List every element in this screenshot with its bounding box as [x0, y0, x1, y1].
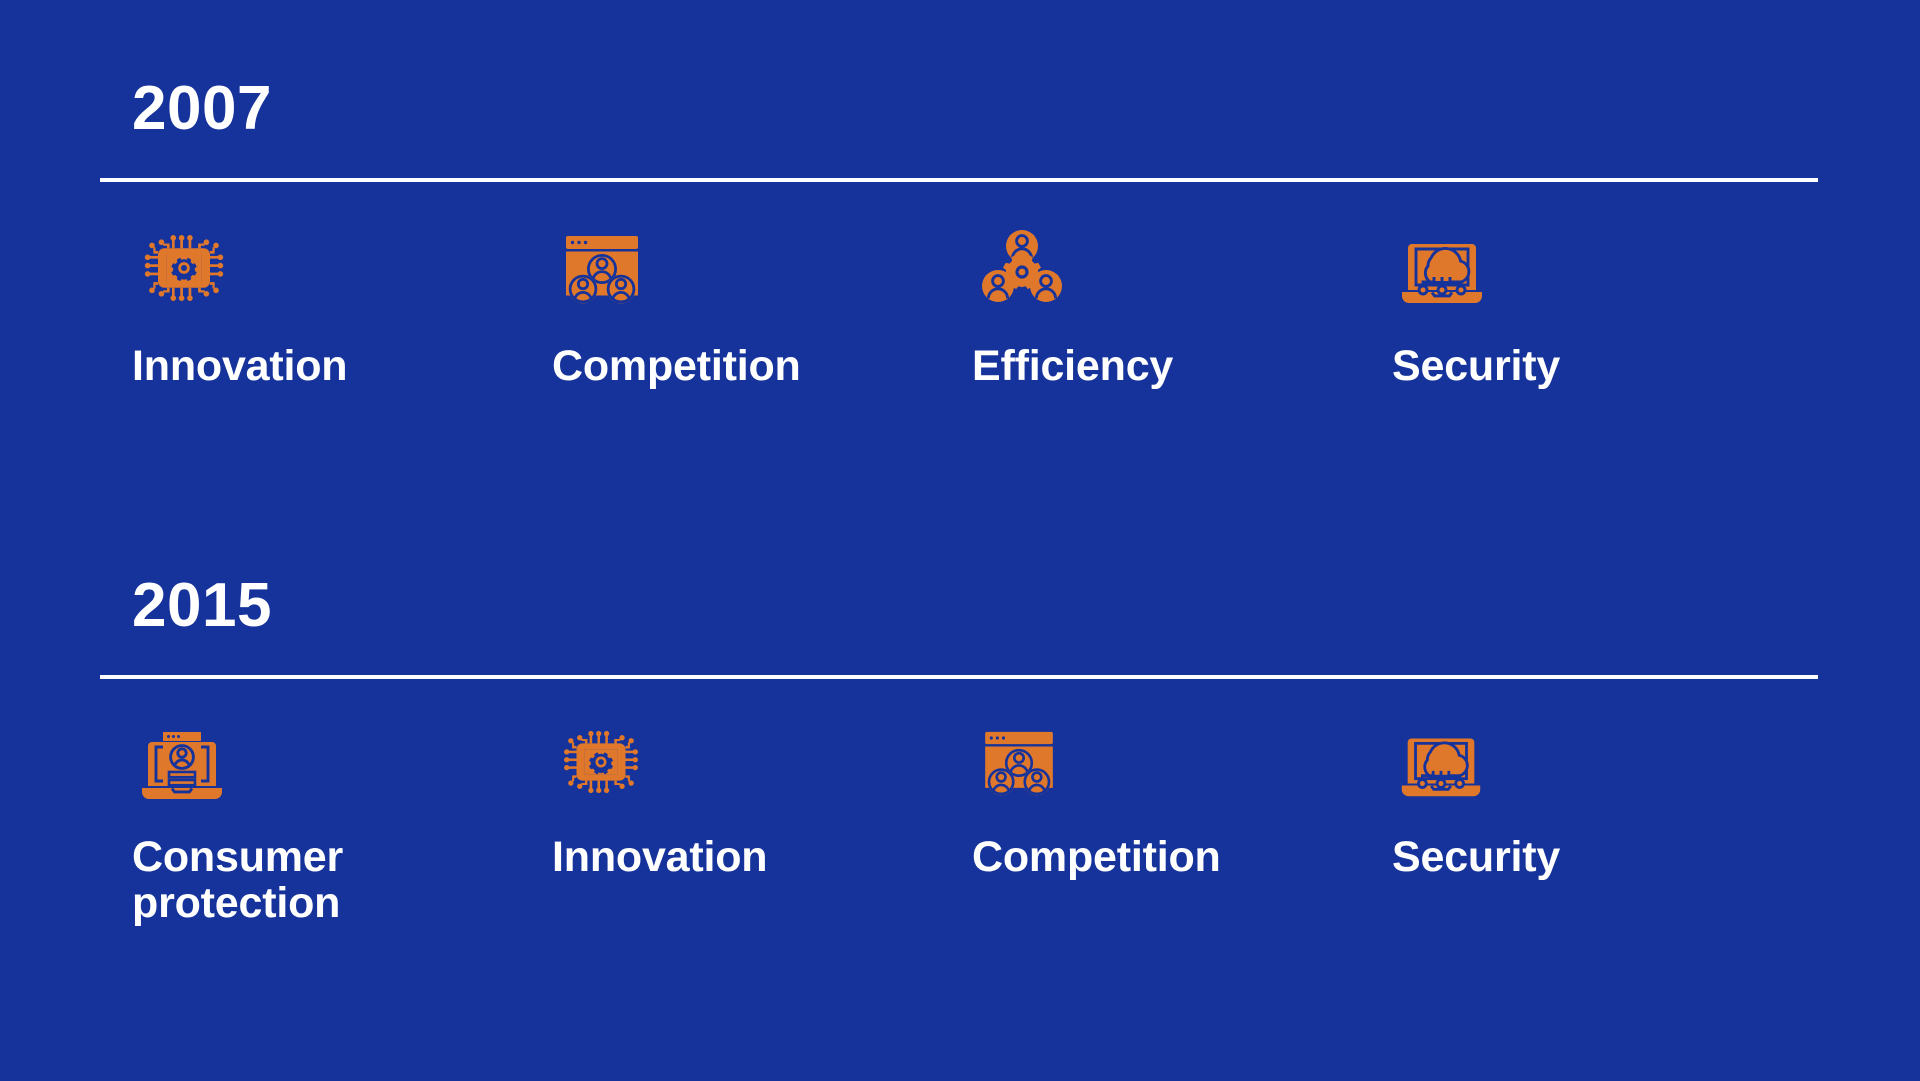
section-2007: 2007: [100, 78, 1820, 390]
people-gear-icon: [972, 216, 1072, 320]
item-label: Innovation: [132, 344, 347, 390]
laptop-cloud-icon: [1392, 713, 1490, 811]
laptop-cloud-icon: [1392, 216, 1492, 320]
item-label: Security: [1392, 344, 1560, 390]
section-divider-2007: [100, 178, 1818, 182]
items-row-2007: Innovation: [100, 216, 1820, 390]
item-innovation-2015[interactable]: Innovation: [520, 713, 940, 881]
section-year-2007: 2007: [132, 78, 1820, 140]
item-security-2015[interactable]: Security: [1360, 713, 1780, 881]
item-label: Competition: [552, 344, 801, 390]
browser-people-icon: [552, 216, 652, 320]
item-competition-2015[interactable]: Competition: [940, 713, 1360, 881]
item-label: Consumer protection: [132, 835, 343, 926]
section-year-2015: 2015: [132, 575, 1820, 637]
laptop-profile-icon: [132, 713, 232, 811]
infographic-board: 2007: [0, 0, 1920, 1081]
item-label: Competition: [972, 835, 1221, 881]
item-security-2007[interactable]: Security: [1360, 216, 1780, 390]
item-consumer-protection-2015[interactable]: Consumer protection: [100, 713, 520, 926]
chip-gear-icon: [132, 216, 236, 320]
browser-people-icon: [972, 713, 1066, 811]
item-label: Efficiency: [972, 344, 1173, 390]
item-label: Innovation: [552, 835, 767, 881]
item-competition-2007[interactable]: Competition: [520, 216, 940, 390]
item-efficiency-2007[interactable]: Efficiency: [940, 216, 1360, 390]
section-2015: 2015: [100, 575, 1820, 926]
item-label: Security: [1392, 835, 1560, 881]
section-divider-2015: [100, 675, 1818, 679]
chip-gear-icon: [552, 713, 650, 811]
items-row-2015: Consumer protection: [100, 713, 1820, 926]
item-innovation-2007[interactable]: Innovation: [100, 216, 520, 390]
